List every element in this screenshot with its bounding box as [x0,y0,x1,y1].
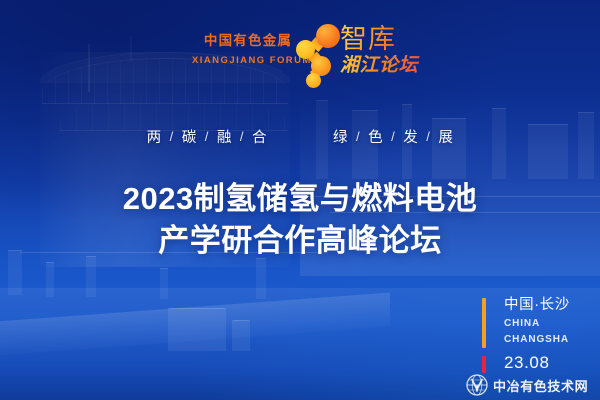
site-watermark-text: 中冶有色技术网 [493,376,588,395]
logo-org-en: XIANGJIANG FORUM [192,55,304,66]
site-watermark: 中冶有色技术网 [466,374,588,396]
molecule-node-2 [296,40,315,59]
tagline-char: 发 [396,126,425,147]
event-poster: 中国有色金属 XIANGJIANG FORUM 智库 湘江论坛 两 / 碳 / … [0,0,600,400]
event-date: 23.08 [504,353,592,373]
tagline-char: 绿 [326,126,355,147]
globe-v-logo-icon [466,374,488,396]
event-location-rows: 中国·长沙 CHINA CHANGSHA 23.08 [482,296,592,373]
molecule-chain-icon [296,24,346,90]
tagline-group-right: 绿 / 色 / 发 / 展 [326,126,460,147]
forum-logo-text-left: 中国有色金属 XIANGJIANG FORUM [192,32,304,66]
poster-title: 2023制氢储氢与燃料电池 产学研合作高峰论坛 [0,178,600,262]
tagline: 两 / 碳 / 融 / 合 绿 / 色 / 发 / 展 [0,126,600,147]
event-city-en: CHANGSHA [504,334,592,347]
tagline-group-left: 两 / 碳 / 融 / 合 [140,126,274,147]
logo-brand-cn: 智库 [340,24,420,54]
tagline-char: 展 [431,126,460,147]
event-country-en: CHINA [504,318,592,331]
logo-org-cn: 中国有色金属 [192,32,304,49]
orange-accent-bar [482,298,486,348]
poster-title-line2: 产学研合作高峰论坛 [0,220,600,262]
forum-logo: 中国有色金属 XIANGJIANG FORUM 智库 湘江论坛 [192,26,412,92]
molecule-node-4 [306,73,321,88]
tagline-char: 两 [140,126,169,147]
event-city-cn: 中国·长沙 [504,296,592,315]
tagline-char: 色 [361,126,390,147]
poster-title-line1: 2023制氢储氢与燃料电池 [123,181,477,216]
tagline-char: 碳 [175,126,204,147]
logo-brand-sub-cn: 湘江论坛 [340,55,420,76]
red-accent-bar [482,356,486,373]
event-location-block: 中国·长沙 CHINA CHANGSHA 23.08 [482,296,592,373]
tagline-char: 融 [210,126,239,147]
forum-logo-text-right: 智库 湘江论坛 [340,24,420,76]
molecule-node-1 [316,24,340,48]
tagline-char: 合 [245,126,274,147]
